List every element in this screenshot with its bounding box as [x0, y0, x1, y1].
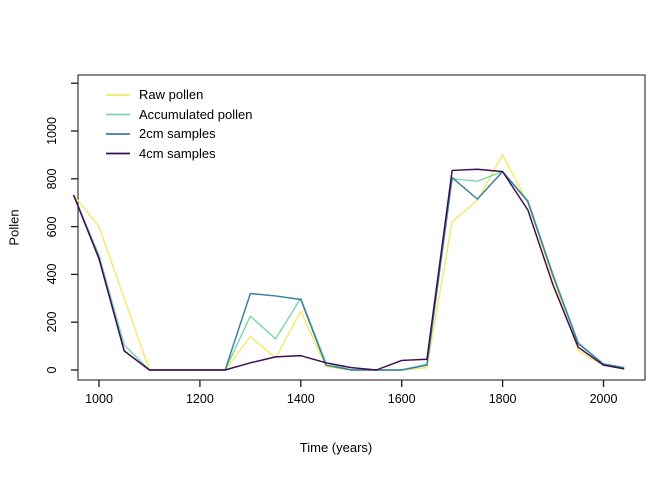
legend-swatch-lines: [106, 95, 130, 154]
x-tick-label-2000: 2000: [590, 392, 618, 406]
y-tick-label-200: 200: [45, 312, 59, 333]
x-tick-label-1800: 1800: [489, 392, 517, 406]
y-tick-label-1000: 1000: [45, 117, 59, 145]
legend-item-2cm-samples: 2cm samples: [139, 126, 216, 141]
plot-canvas: [0, 0, 672, 480]
x-tick-label-1400: 1400: [287, 392, 315, 406]
x-tick-label-1200: 1200: [186, 392, 214, 406]
y-tick-label-600: 600: [45, 216, 59, 237]
y-tick-label-400: 400: [45, 264, 59, 285]
x-tick-label-1000: 1000: [85, 392, 113, 406]
y-tick-label-0: 0: [45, 367, 59, 374]
x-axis-title: Time (years): [0, 440, 672, 455]
y-tick-label-800: 800: [45, 168, 59, 189]
y-axis-title: Pollen: [7, 178, 22, 278]
legend-item-4cm-samples: 4cm samples: [139, 146, 216, 161]
legend-item-accumulated-pollen: Accumulated pollen: [139, 107, 252, 122]
pollen-chart-figure: Time (years) Pollen 10001200140016001800…: [0, 0, 672, 480]
legend-item-raw-pollen: Raw pollen: [139, 87, 203, 102]
data-series-lines: [74, 155, 624, 370]
x-tick-label-1600: 1600: [388, 392, 416, 406]
